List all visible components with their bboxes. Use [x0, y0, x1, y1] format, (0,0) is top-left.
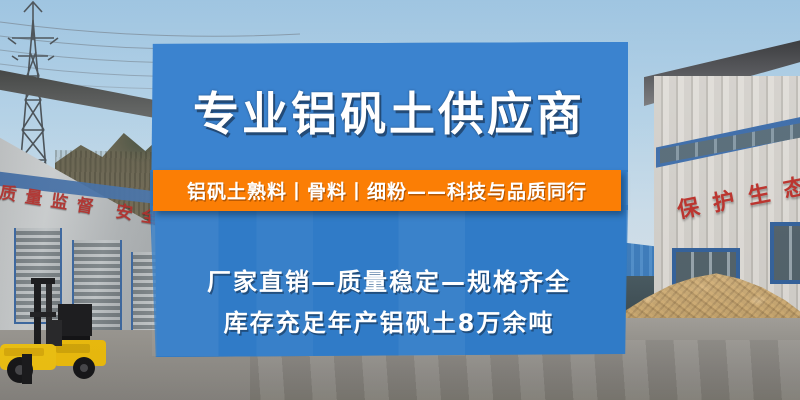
subline-1: 厂家直销—质量稳定—规格齐全 [150, 262, 628, 297]
orange-ribbon-text: 铝矾土熟料丨骨料丨细粉——科技与品质同行 [153, 170, 621, 211]
headline: 专业铝矾土供应商 [150, 78, 628, 144]
subline-2: 库存充足年产铝矾土8万余吨 [150, 303, 628, 338]
promo-banner: 保护生态 质量监督 安全第一 [0, 0, 800, 400]
forklift-icon [0, 278, 112, 384]
right-window-2 [770, 222, 800, 284]
